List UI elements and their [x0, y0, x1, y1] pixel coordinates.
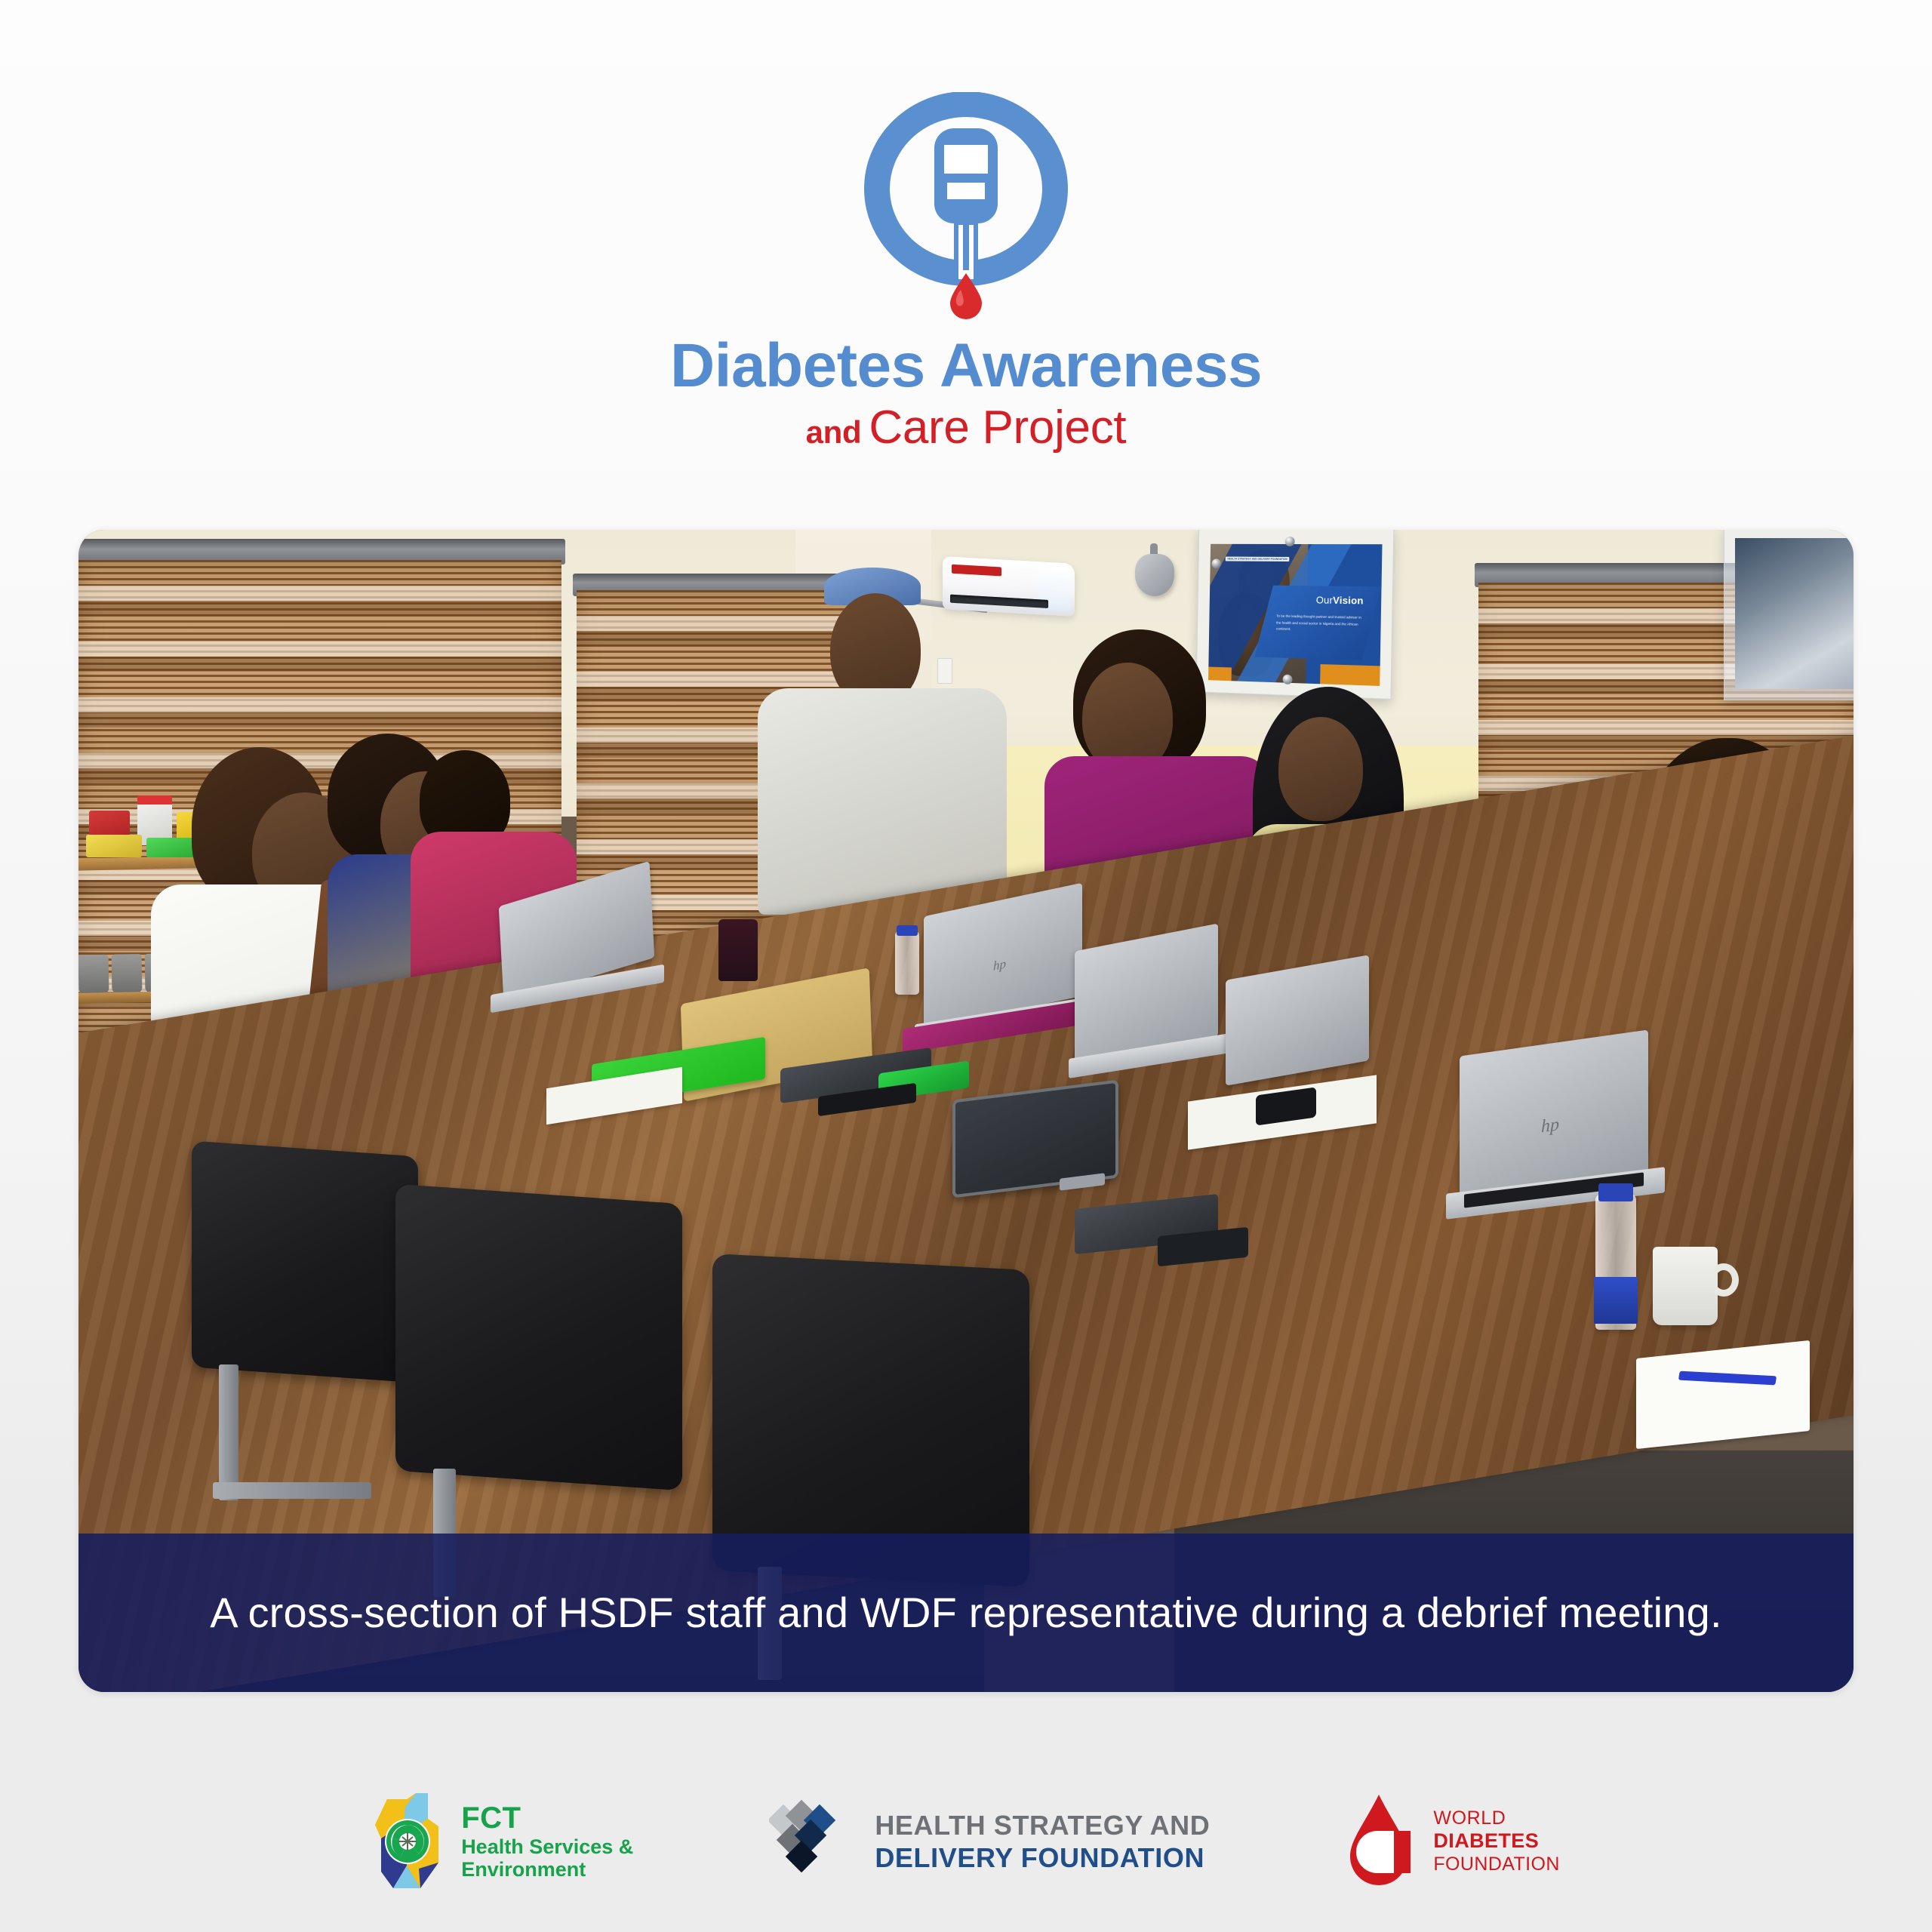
brand-title-and: and — [806, 414, 862, 450]
air-conditioner-icon — [943, 556, 1075, 617]
poster-heading: OurVision — [1316, 595, 1364, 607]
wdf-line2: DIABETES — [1433, 1829, 1559, 1853]
coffee-mug — [1653, 1247, 1718, 1325]
poster-heading-bold: Vision — [1333, 595, 1364, 607]
fct-logo: FCT Health Services & Environment — [372, 1793, 633, 1890]
logo-svg — [841, 92, 1091, 326]
poster-screw — [1283, 675, 1293, 685]
fct-line2: Health Services & — [461, 1835, 633, 1858]
chair-foreground-center — [395, 1184, 682, 1491]
fct-mark-icon — [372, 1793, 445, 1890]
brand-title: Diabetes Awareness andCare Project — [670, 335, 1262, 451]
poster-hsdf-logo: HEALTH STRATEGY AND DELIVERY FOUNDATION — [1225, 556, 1289, 561]
brand-title-line2: andCare Project — [670, 405, 1262, 451]
poster-accent-left — [1208, 666, 1232, 681]
second-wall-frame — [1724, 530, 1854, 700]
light-switch — [937, 658, 952, 684]
ac-vent — [950, 595, 1048, 608]
wdf-blood-drop-icon — [1346, 1793, 1417, 1890]
laptop-brand-logo: hp — [993, 956, 1006, 974]
fct-line3: Environment — [461, 1858, 633, 1881]
partner-logos-row: FCT Health Services & Environment HEALTH… — [0, 1766, 1932, 1917]
hsdf-mark-svg — [769, 1800, 858, 1883]
photo-scene: HEALTH STRATEGY AND DELIVERY FOUNDATION … — [78, 530, 1854, 1692]
flask — [718, 919, 758, 981]
hsdf-logo-text: HEALTH STRATEGY AND DELIVERY FOUNDATION — [875, 1809, 1210, 1874]
hsdf-diamond-mark-icon — [769, 1800, 858, 1883]
chair-foreground-left — [192, 1141, 418, 1383]
poster-body-text: To be the leading thought partner and tr… — [1276, 614, 1367, 635]
bottle-cap — [1598, 1183, 1633, 1201]
second-frame-image — [1735, 538, 1854, 689]
brand-title-care: Care Project — [869, 401, 1126, 454]
hsdf-line2: DELIVERY FOUNDATION — [875, 1841, 1210, 1874]
bottle-label — [1594, 1277, 1638, 1324]
wdf-logo: WORLD DIABETES FOUNDATION — [1346, 1793, 1559, 1890]
notepad — [1636, 1340, 1810, 1449]
water-bottle-small — [895, 930, 919, 995]
wdf-line3: FOUNDATION — [1433, 1854, 1559, 1875]
our-vision-wall-poster: HEALTH STRATEGY AND DELIVERY FOUNDATION … — [1196, 530, 1395, 700]
meeting-photo-card: HEALTH STRATEGY AND DELIVERY FOUNDATION … — [78, 530, 1854, 1692]
wdf-line1: WORLD — [1433, 1807, 1559, 1829]
poster-heading-light: Our — [1316, 595, 1334, 606]
bottle-cap — [897, 925, 918, 936]
glucometer-in-ring-logo — [841, 92, 1091, 326]
photo-caption-bar: A cross-section of HSDF staff and WDF re… — [78, 1534, 1854, 1692]
chair-leg — [213, 1482, 371, 1499]
chair-leg — [219, 1364, 238, 1500]
wdf-mark-svg — [1346, 1793, 1417, 1890]
hsdf-line1: HEALTH STRATEGY AND — [875, 1809, 1210, 1841]
fct-mark-svg — [372, 1793, 445, 1890]
shelf-box-yellow — [86, 835, 142, 857]
brand-title-line1: Diabetes Awareness — [670, 335, 1262, 397]
laptop-brand-logo: hp — [1541, 1115, 1559, 1137]
poster-inner: HEALTH STRATEGY AND DELIVERY FOUNDATION … — [1208, 544, 1382, 686]
hsdf-logo: HEALTH STRATEGY AND DELIVERY FOUNDATION — [769, 1800, 1210, 1883]
wdf-logo-text: WORLD DIABETES FOUNDATION — [1433, 1807, 1559, 1875]
poster-accent-bottom — [1320, 664, 1380, 686]
mug-handle — [1709, 1263, 1739, 1297]
wall-camera-icon — [1135, 554, 1174, 596]
ac-brand-label — [952, 565, 1001, 577]
fct-logo-text: FCT Health Services & Environment — [461, 1801, 633, 1881]
photo-caption-text: A cross-section of HSDF staff and WDF re… — [210, 1586, 1721, 1640]
fct-line1: FCT — [461, 1801, 633, 1835]
header: Diabetes Awareness andCare Project — [0, 0, 1932, 451]
